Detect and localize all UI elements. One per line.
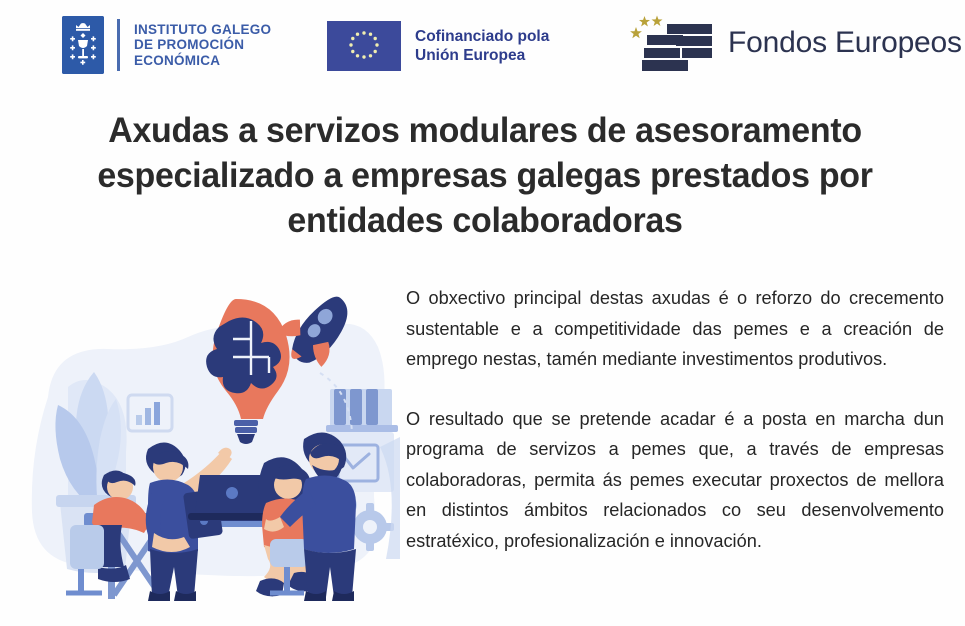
logo-divider — [117, 19, 120, 71]
igape-logo-text: INSTITUTO GALEGO DE PROMOCIÓN ECONÓMICA — [134, 22, 271, 69]
poster-page: INSTITUTO GALEGO DE PROMOCIÓN ECONÓMICA — [0, 0, 965, 626]
igape-line-1: INSTITUTO GALEGO — [134, 22, 271, 38]
european-union-logo: Cofinanciado pola Unión Europea — [327, 17, 549, 75]
page-title-line-3: entidades colaboradoras — [53, 198, 916, 243]
eu-line-1: Cofinanciado pola — [415, 27, 549, 46]
logo-strip: INSTITUTO GALEGO DE PROMOCIÓN ECONÓMICA — [0, 0, 965, 88]
xunta-de-galicia-chalice-coat-of-arms-icon — [62, 16, 104, 74]
european-union-flag-icon — [327, 21, 401, 71]
igape-logo: INSTITUTO GALEGO DE PROMOCIÓN ECONÓMICA — [62, 14, 271, 76]
fondos-europeos-label: Fondos Europeos — [728, 26, 962, 60]
eu-line-2: Unión Europea — [415, 46, 549, 65]
content-area: O obxectivo principal destas axudas é o … — [0, 265, 965, 626]
stair-step-bars-with-stars-icon — [620, 11, 718, 75]
igape-line-3: ECONÓMICA — [134, 53, 271, 69]
igape-line-2: DE PROMOCIÓN — [134, 37, 271, 53]
fondos-europeos-logo: Fondos Europeos — [620, 8, 962, 78]
page-title-line-2: especializado a empresas galegas prestad… — [53, 153, 916, 198]
team-collaboration-illustration — [8, 277, 400, 607]
european-union-logo-text: Cofinanciado pola Unión Europea — [415, 27, 549, 65]
body-paragraph-2: O resultado que se pretende acadar é a p… — [406, 404, 944, 557]
page-title-line-1: Axudas a servizos modulares de asesorame… — [53, 108, 916, 153]
body-text-column: O obxectivo principal destas axudas é o … — [406, 283, 944, 556]
page-title: Axudas a servizos modulares de asesorame… — [40, 108, 930, 243]
body-paragraph-1: O obxectivo principal destas axudas é o … — [406, 283, 944, 375]
